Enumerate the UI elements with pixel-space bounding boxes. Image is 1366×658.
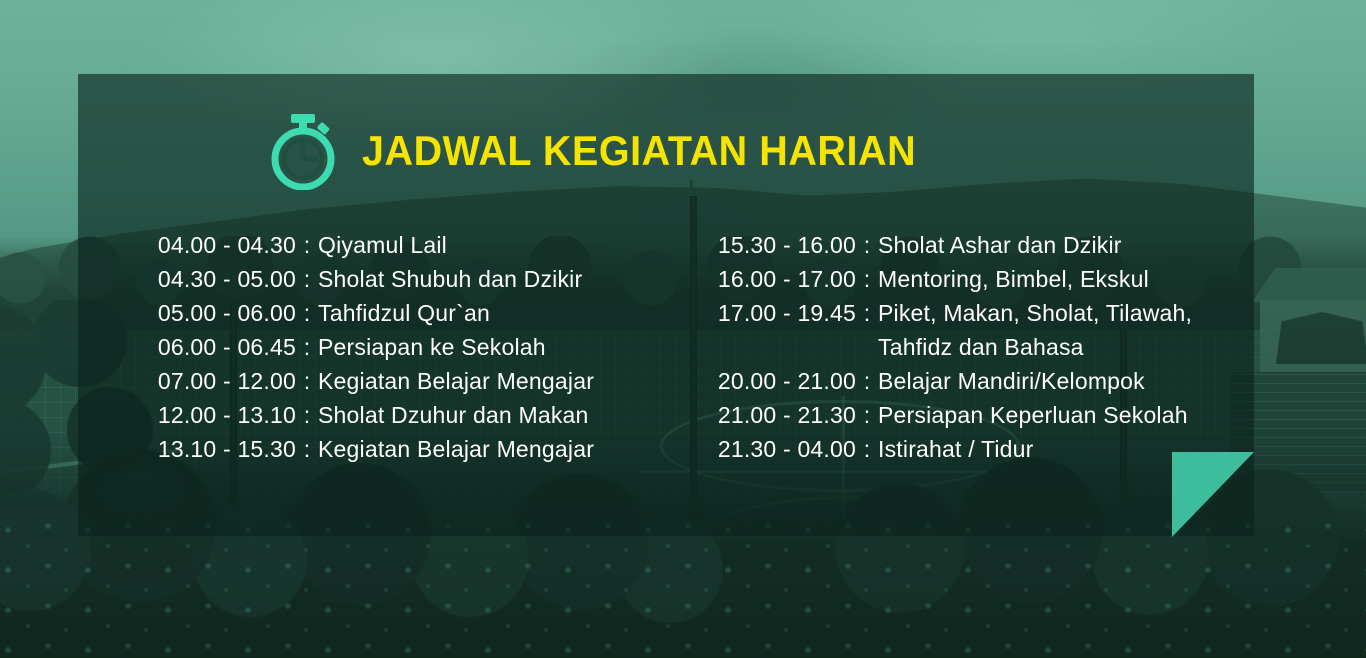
schedule-row: 20.00 - 21.00:Belajar Mandiri/Kelompok: [706, 368, 1192, 402]
schedule-row: 12.00 - 13.10:Sholat Dzuhur dan Makan: [126, 402, 594, 436]
schedule-time: 12.00 - 13.10: [126, 402, 296, 429]
schedule-activity: Persiapan Keperluan Sekolah: [878, 402, 1188, 429]
schedule-activity: Mentoring, Bimbel, Ekskul: [878, 266, 1149, 293]
schedule-row: 21.00 - 21.30:Persiapan Keperluan Sekola…: [706, 402, 1192, 436]
schedule-column-right: 15.30 - 16.00:Sholat Ashar dan Dzikir16.…: [706, 232, 1192, 470]
schedule-activity: Sholat Shubuh dan Dzikir: [318, 266, 582, 293]
schedule-activity: Istirahat / Tidur: [878, 436, 1034, 463]
schedule-time: 07.00 - 12.00: [126, 368, 296, 395]
schedule-time: 17.00 - 19.45: [706, 300, 856, 327]
schedule-time: 15.30 - 16.00: [706, 232, 856, 259]
schedule-separator: :: [296, 402, 318, 429]
schedule-activity: Kegiatan Belajar Mengajar: [318, 368, 594, 395]
schedule-separator: :: [856, 368, 878, 395]
schedule-time: 21.00 - 21.30: [706, 402, 856, 429]
schedule-separator: :: [296, 436, 318, 463]
schedule-row: 07.00 - 12.00:Kegiatan Belajar Mengajar: [126, 368, 594, 402]
schedule: 04.00 - 04.30:Qiyamul Lail04.30 - 05.00:…: [0, 0, 1366, 658]
schedule-separator: :: [296, 334, 318, 361]
triangle-accent: [1172, 452, 1254, 537]
schedule-row: 21.30 - 04.00:Istirahat / Tidur: [706, 436, 1192, 470]
schedule-row: 17.00 - 19.45:Piket, Makan, Sholat, Tila…: [706, 300, 1192, 334]
schedule-separator: :: [856, 232, 878, 259]
schedule-time: 05.00 - 06.00: [126, 300, 296, 327]
schedule-row: 06.00 - 06.45:Persiapan ke Sekolah: [126, 334, 594, 368]
schedule-time: 04.30 - 05.00: [126, 266, 296, 293]
schedule-time: 20.00 - 21.00: [706, 368, 856, 395]
schedule-separator: :: [856, 266, 878, 293]
schedule-activity: Persiapan ke Sekolah: [318, 334, 546, 361]
schedule-column-left: 04.00 - 04.30:Qiyamul Lail04.30 - 05.00:…: [126, 232, 594, 470]
schedule-activity: Qiyamul Lail: [318, 232, 447, 259]
schedule-separator: :: [856, 436, 878, 463]
schedule-separator: :: [856, 300, 878, 327]
schedule-row: 16.00 - 17.00:Mentoring, Bimbel, Ekskul: [706, 266, 1192, 300]
schedule-separator: :: [296, 232, 318, 259]
schedule-activity: Kegiatan Belajar Mengajar: [318, 436, 594, 463]
daily-schedule-poster: JADWAL KEGIATAN HARIAN 04.00 - 04.30:Qiy…: [0, 0, 1366, 658]
schedule-activity: Sholat Dzuhur dan Makan: [318, 402, 589, 429]
schedule-time: 06.00 - 06.45: [126, 334, 296, 361]
schedule-time: 21.30 - 04.00: [706, 436, 856, 463]
schedule-row: 05.00 - 06.00:Tahfidzul Qur`an: [126, 300, 594, 334]
schedule-separator: :: [296, 368, 318, 395]
schedule-time: 16.00 - 17.00: [706, 266, 856, 293]
schedule-row: 04.00 - 04.30:Qiyamul Lail: [126, 232, 594, 266]
schedule-activity: Sholat Ashar dan Dzikir: [878, 232, 1122, 259]
schedule-separator: :: [856, 402, 878, 429]
schedule-time: 04.00 - 04.30: [126, 232, 296, 259]
schedule-separator: :: [296, 300, 318, 327]
schedule-activity: Tahfidz dan Bahasa: [878, 334, 1084, 361]
schedule-row: 13.10 - 15.30:Kegiatan Belajar Mengajar: [126, 436, 594, 470]
schedule-row: :Tahfidz dan Bahasa: [706, 334, 1192, 368]
schedule-time: 13.10 - 15.30: [126, 436, 296, 463]
schedule-row: 15.30 - 16.00:Sholat Ashar dan Dzikir: [706, 232, 1192, 266]
schedule-separator: :: [296, 266, 318, 293]
schedule-row: 04.30 - 05.00:Sholat Shubuh dan Dzikir: [126, 266, 594, 300]
schedule-activity: Tahfidzul Qur`an: [318, 300, 490, 327]
schedule-activity: Piket, Makan, Sholat, Tilawah,: [878, 300, 1192, 327]
schedule-activity: Belajar Mandiri/Kelompok: [878, 368, 1145, 395]
